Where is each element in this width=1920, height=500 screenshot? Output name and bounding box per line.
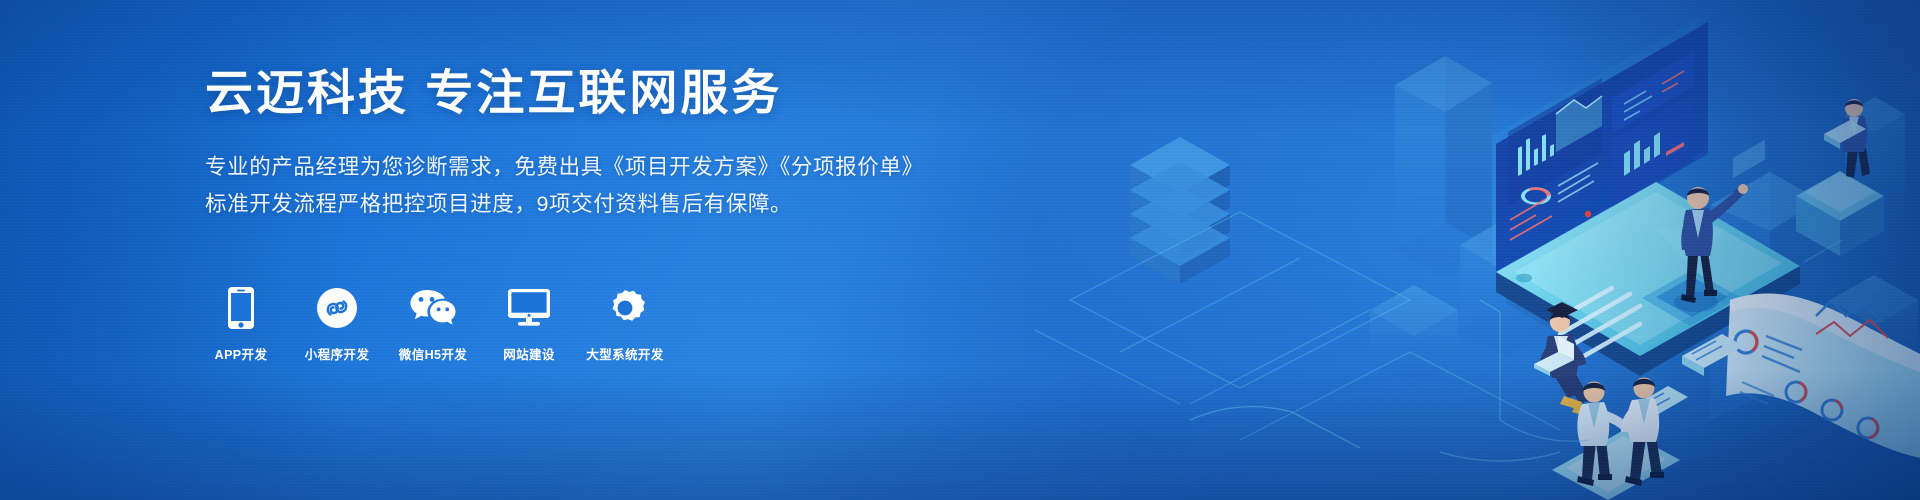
- service-item-wechat-h5[interactable]: 微信H5开发: [397, 286, 469, 363]
- service-label: 大型系统开发: [586, 344, 663, 363]
- two-people-talking: [1552, 378, 1688, 500]
- screen-assembly: [1228, 60, 1348, 254]
- speech-bubble: [1630, 386, 1688, 426]
- hero-banner: 云迈科技 专注互联网服务 专业的产品经理为您诊断需求，免费出具《项目开发方案》《…: [0, 0, 1920, 500]
- server-stack: [1130, 137, 1230, 284]
- service-label: APP开发: [215, 344, 268, 363]
- connector-lines: [1480, 240, 1842, 441]
- hero-copy: 云迈科技 专注互联网服务 专业的产品经理为您诊断需求，免费出具《项目开发方案》《…: [205, 66, 925, 223]
- mobile-phone-icon: [228, 286, 254, 330]
- floating-chip: [1824, 120, 1866, 149]
- floating-card: [1682, 334, 1744, 376]
- service-list: APP开发 小程序开发: [205, 286, 661, 363]
- person-far-right: [1841, 99, 1870, 178]
- hero-subtitle: 专业的产品经理为您诊断需求，免费出具《项目开发方案》《分项报价单》 标准开发流程…: [205, 149, 925, 223]
- service-label: 微信H5开发: [399, 344, 467, 363]
- service-label: 网站建设: [503, 344, 555, 363]
- service-item-website[interactable]: 网站建设: [493, 286, 565, 363]
- standing-person-pointing: [1674, 184, 1748, 312]
- gear-icon: [605, 286, 645, 330]
- tablet-platform: [1496, 182, 1800, 376]
- wechat-icon: [409, 286, 457, 330]
- dashboard-device: [1492, 16, 1708, 276]
- subtitle-line-1: 专业的产品经理为您诊断需求，免费出具《项目开发方案》《分项报价单》: [205, 149, 925, 186]
- service-item-large-system[interactable]: 大型系统开发: [589, 286, 661, 363]
- grid-floor-lines: [1035, 212, 1560, 440]
- illustration-container: [940, 0, 1920, 500]
- page-title: 云迈科技 专注互联网服务: [205, 66, 925, 123]
- dashboard-screen: [940, 0, 1360, 470]
- service-label: 小程序开发: [305, 344, 370, 363]
- subtitle-line-2: 标准开发流程严格把控项目进度，9项交付资料售后有保障。: [205, 186, 925, 223]
- service-item-app[interactable]: APP开发: [205, 286, 277, 363]
- mini-program-icon: [317, 286, 357, 330]
- cube-block: [1796, 171, 1884, 256]
- seated-person-laptop: [1534, 288, 1640, 418]
- flowing-data-sheet: [1726, 294, 1920, 458]
- city-skyline-towers: [1370, 56, 1918, 450]
- monitor-icon: [508, 286, 550, 330]
- service-item-mini-program[interactable]: 小程序开发: [301, 286, 373, 363]
